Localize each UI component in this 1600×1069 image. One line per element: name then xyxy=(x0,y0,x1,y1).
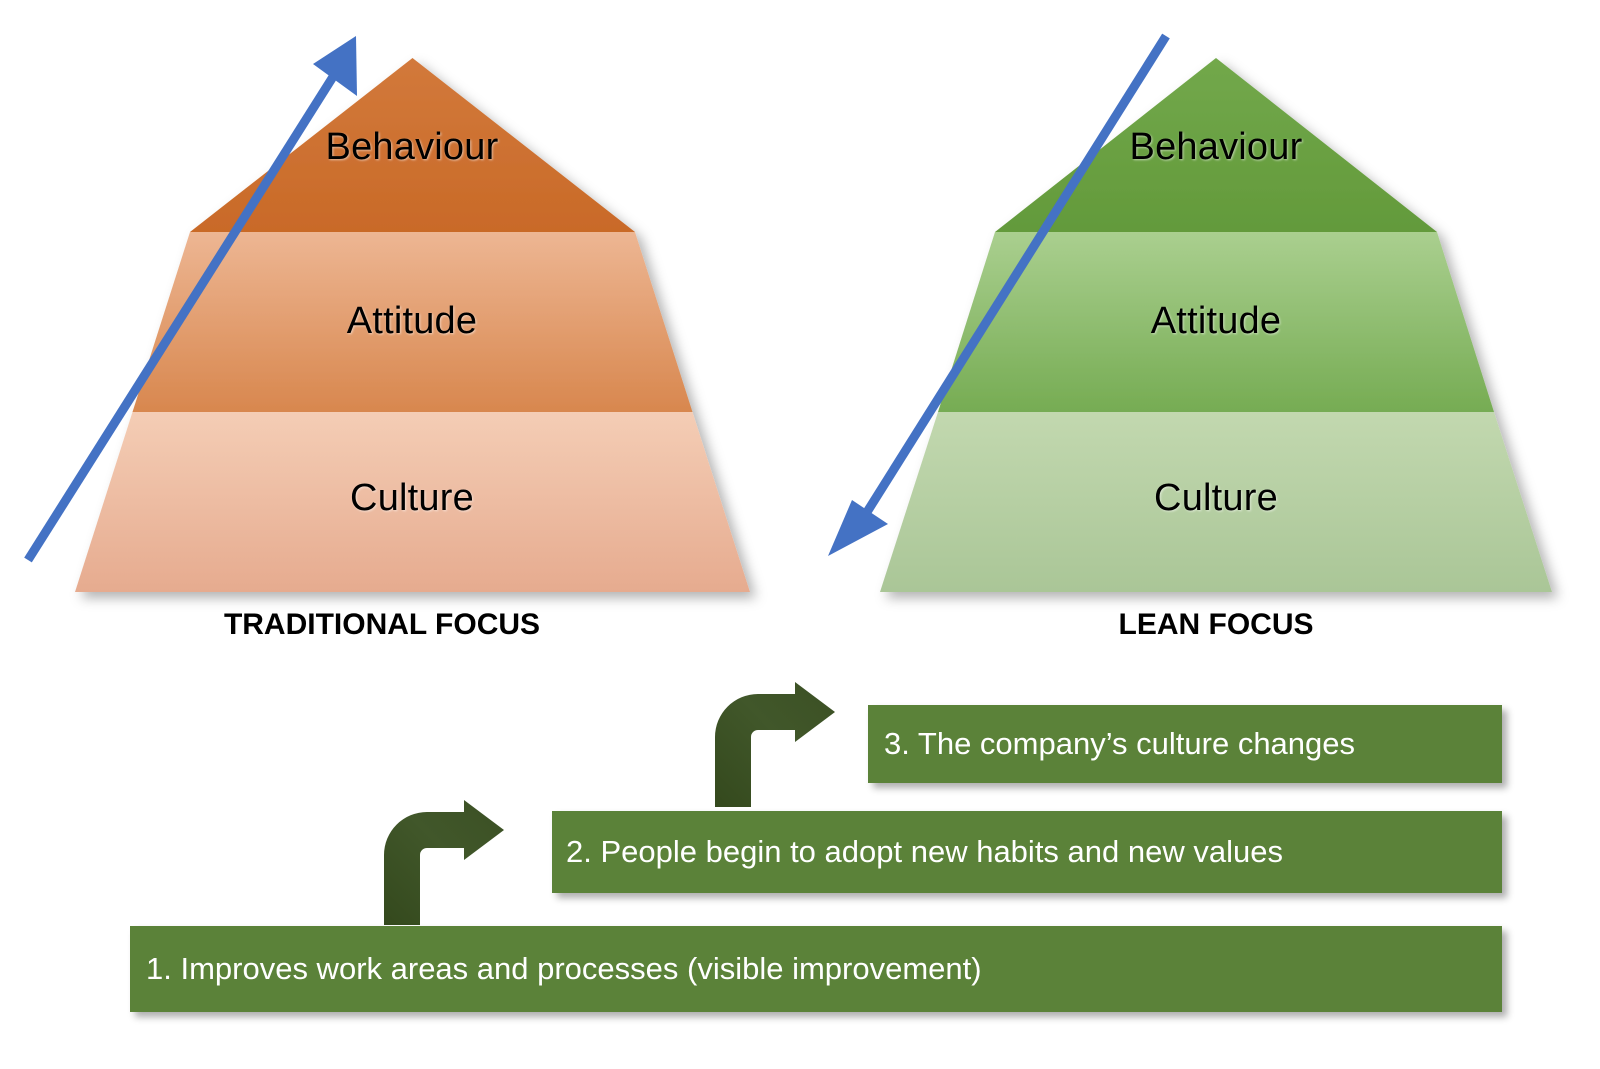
caption-lean-focus: LEAN FOCUS xyxy=(1016,608,1416,642)
step-bar-3-label: 3. The company’s culture changes xyxy=(884,726,1355,762)
tier-label-culture-traditional: Culture xyxy=(212,477,612,520)
tier-label-attitude-lean: Attitude xyxy=(1016,300,1416,343)
traditional-focus-pyramid: Behaviour Attitude Culture TRADITIONAL F… xyxy=(0,0,800,660)
lean-focus-pyramid: Behaviour Attitude Culture LEAN FOCUS xyxy=(800,0,1600,660)
elbow-arrow-up-right-upper xyxy=(703,682,838,807)
tier-label-behaviour-lean: Behaviour xyxy=(1016,126,1416,169)
tier-label-behaviour-traditional: Behaviour xyxy=(212,126,612,169)
step-bar-1[interactable]: 1. Improves work areas and processes (vi… xyxy=(130,926,1502,1012)
tier-label-culture-lean: Culture xyxy=(1016,477,1416,520)
step-bar-2[interactable]: 2. People begin to adopt new habits and … xyxy=(552,811,1502,893)
tier-label-attitude-traditional: Attitude xyxy=(212,300,612,343)
elbow-arrow-shape xyxy=(384,800,504,925)
elbow-arrow-shape xyxy=(715,682,835,807)
elbow-arrow-up-right-lower xyxy=(372,800,507,925)
step-bar-3[interactable]: 3. The company’s culture changes xyxy=(868,705,1502,783)
caption-traditional-focus: TRADITIONAL FOCUS xyxy=(182,608,582,642)
diagram-canvas: Behaviour Attitude Culture TRADITIONAL F… xyxy=(0,0,1600,1069)
step-bar-1-label: 1. Improves work areas and processes (vi… xyxy=(146,951,982,987)
step-bar-2-label: 2. People begin to adopt new habits and … xyxy=(566,834,1283,870)
